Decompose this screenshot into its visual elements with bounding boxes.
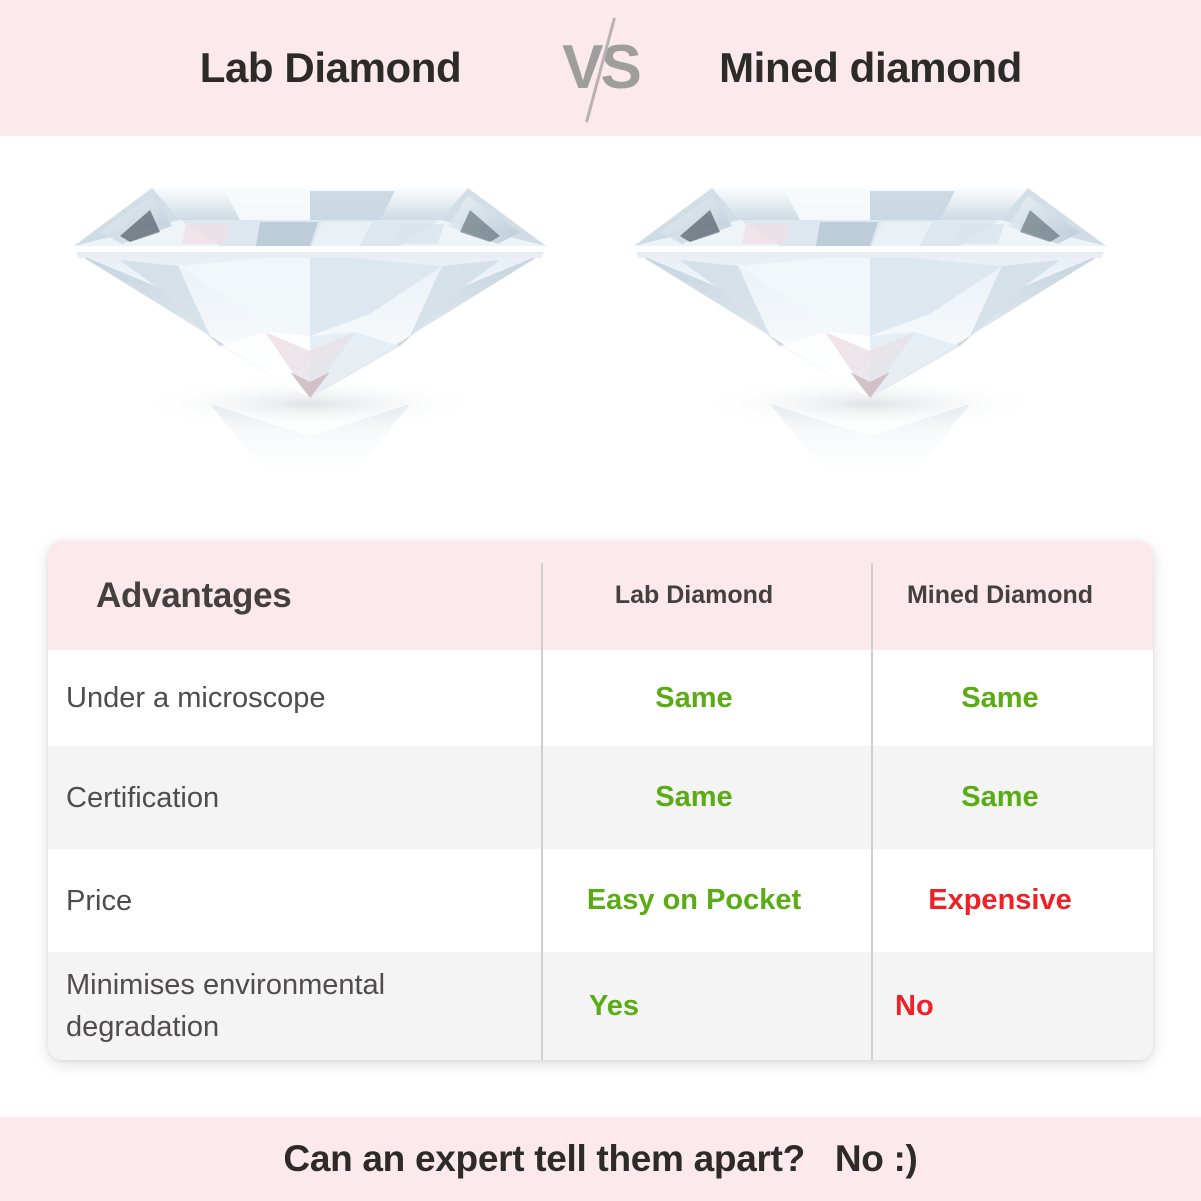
header-band: Lab Diamond VS Mined diamond [0,0,1201,136]
row-feature-label: Price [48,880,541,922]
vs-badge: VS [541,8,661,128]
row-feature-label: Under a microscope [48,677,541,719]
row-value-mined: Same [847,682,1153,715]
infographic-page: Lab Diamond VS Mined diamond [0,0,1201,1201]
row-value-lab: Yes [541,990,847,1023]
header-title-mined: Mined diamond [661,44,1081,92]
row-value-mined: No [847,990,1153,1023]
row-value-mined: Same [847,781,1153,814]
column-header-lab-diamond: Lab Diamond [541,581,847,610]
row-value-lab: Easy on Pocket [541,884,847,917]
table-row: Minimises environmental degradation Yes … [48,952,1153,1060]
row-feature-label: Certification [48,777,541,819]
row-feature-label: Minimises environmental degradation [48,964,541,1048]
column-divider-2 [871,563,873,1060]
footer-band: Can an expert tell them apart? No :) [0,1117,1201,1201]
mined-diamond-image [620,136,1120,541]
header-title-lab: Lab Diamond [121,44,541,92]
row-value-lab: Same [541,682,847,715]
table-row: Price Easy on Pocket Expensive [48,849,1153,952]
table-row: Under a microscope Same Same [48,650,1153,746]
diamond-image-area [0,136,1201,541]
row-value-mined: Expensive [847,884,1153,917]
table-header-row: Advantages Lab Diamond Mined Diamond [48,541,1153,650]
comparison-table: Advantages Lab Diamond Mined Diamond Und… [48,541,1153,1060]
footer-question: Can an expert tell them apart? No :) [283,1138,917,1180]
column-divider-1 [541,563,543,1060]
column-header-advantages: Advantages [48,576,541,616]
table-row: Certification Same Same [48,746,1153,849]
column-header-mined-diamond: Mined Diamond [847,581,1153,610]
lab-diamond-image [60,136,560,541]
row-value-lab: Same [541,781,847,814]
